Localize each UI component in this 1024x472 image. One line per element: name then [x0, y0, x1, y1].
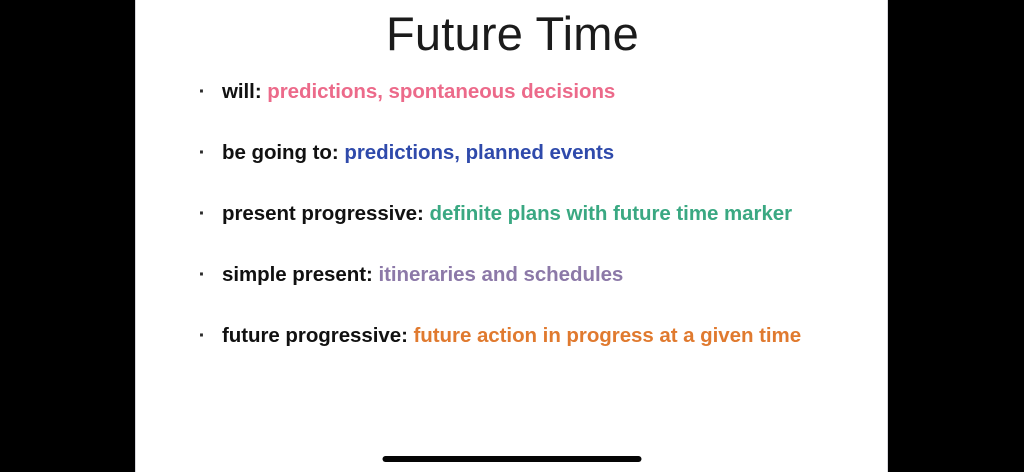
home-indicator-bar[interactable]	[382, 456, 641, 462]
bullet-dot-icon: ·	[195, 75, 209, 108]
list-item: ·be going to: predictions, planned event…	[189, 136, 879, 169]
bullet-description: definite plans with future time marker	[429, 202, 792, 225]
bullet-label: simple present:	[222, 263, 373, 286]
bullet-dot-icon: ·	[195, 258, 209, 291]
list-item: ·will: predictions, spontaneous decision…	[189, 75, 879, 108]
bullet-label: will:	[222, 80, 262, 103]
bullet-dot-icon: ·	[195, 319, 209, 352]
bullet-label: be going to:	[222, 141, 339, 164]
bullet-label: future progressive:	[222, 324, 408, 347]
bullet-description: predictions, spontaneous decisions	[267, 80, 615, 103]
list-item: ·future progressive: future action in pr…	[189, 319, 879, 352]
bullet-description: itineraries and schedules	[378, 263, 623, 286]
bullet-description: predictions, planned events	[344, 141, 614, 164]
list-item: ·present progressive: definite plans wit…	[189, 197, 879, 230]
bullet-label: present progressive:	[222, 202, 424, 225]
screen-frame: Future Time ·will: predictions, spontane…	[0, 0, 1024, 472]
bullet-description: future action in progress at a given tim…	[414, 324, 802, 347]
page-title: Future Time	[136, 5, 888, 64]
bullet-list: ·will: predictions, spontaneous decision…	[189, 75, 879, 352]
bullet-dot-icon: ·	[195, 197, 209, 230]
list-item: ·simple present: itineraries and schedul…	[189, 258, 879, 291]
bullet-dot-icon: ·	[195, 136, 209, 169]
slide-panel: Future Time ·will: predictions, spontane…	[135, 0, 888, 472]
